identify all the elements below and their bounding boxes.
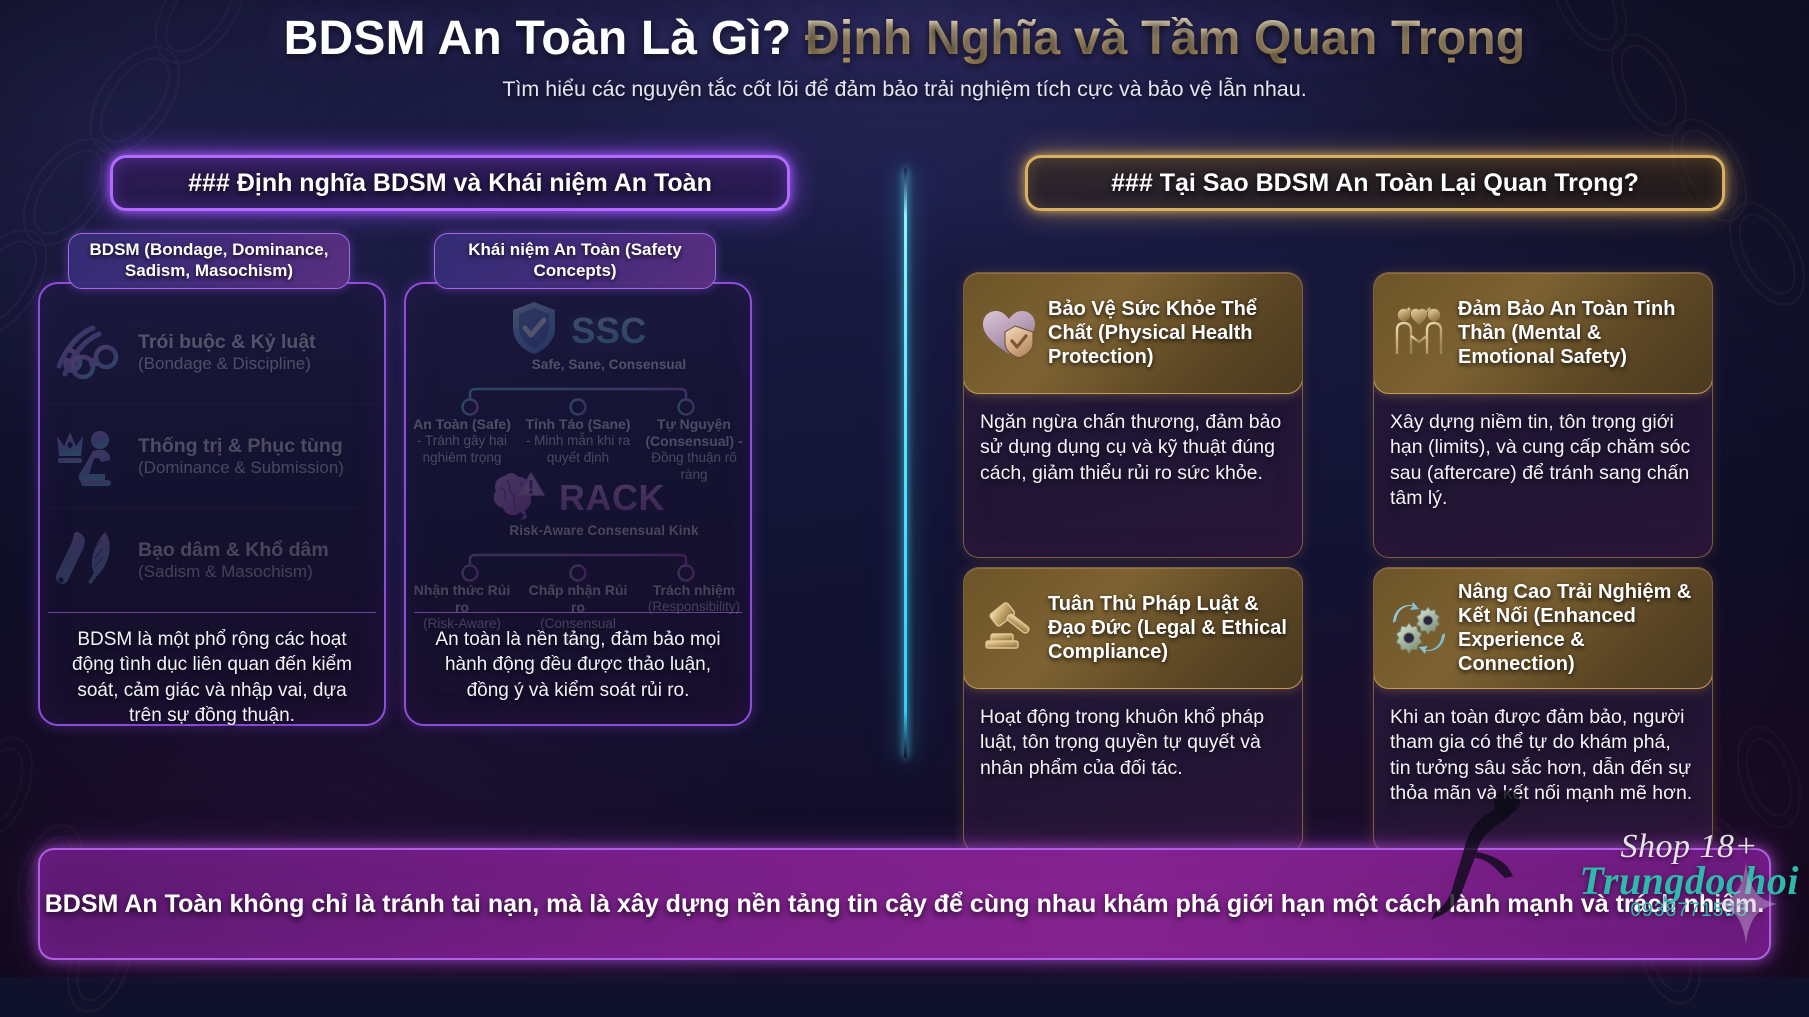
benefit-card-body: Khi an toàn được đảm bảo, người tham gia… — [1374, 689, 1712, 806]
benefit-card-body: Xây dựng niềm tin, tôn trọng giới hạn (l… — [1374, 394, 1712, 511]
page-subtitle: Tìm hiểu các nguyên tắc cốt lõi để đảm b… — [0, 77, 1809, 102]
benefit-card-title: Nâng Cao Trải Nghiệm & Kết Nối (Enhanced… — [1458, 580, 1700, 676]
bdsm-panel-chip: BDSM (Bondage, Dominance, Sadism, Masoch… — [68, 233, 350, 289]
page-title-gold: Định Nghĩa và Tầm Quan Trọng — [805, 12, 1525, 65]
benefit-card-enhanced-experience[interactable]: Nâng Cao Trải Nghiệm & Kết Nối (Enhanced… — [1373, 567, 1713, 853]
bdsm-footnote: BDSM là một phổ rộng các hoạt động tình … — [48, 612, 376, 728]
benefit-card-body: Hoạt động trong khuôn khổ pháp luật, tôn… — [964, 689, 1302, 781]
page-title-white: BDSM An Toàn Là Gì? — [284, 12, 792, 65]
benefit-card-header: Bảo Vệ Sức Khỏe Thể Chất (Physical Healt… — [963, 272, 1303, 394]
benefit-card-header: Tuân Thủ Pháp Luật & Đạo Đức (Legal & Et… — [963, 567, 1303, 689]
benefit-card-header: Đảm Bảo An Toàn Tinh Thần (Mental & Emot… — [1373, 272, 1713, 394]
bottom-banner-text: BDSM An Toàn không chỉ là tránh tai nạn,… — [45, 888, 1764, 921]
heart-shield-icon — [980, 307, 1038, 359]
bottom-banner: BDSM An Toàn không chỉ là tránh tai nạn,… — [38, 848, 1771, 960]
benefit-card-physical-health[interactable]: Bảo Vệ Sức Khỏe Thể Chất (Physical Healt… — [963, 272, 1303, 558]
benefit-card-title: Đảm Bảo An Toàn Tinh Thần (Mental & Emot… — [1458, 297, 1700, 369]
benefit-card-body: Ngăn ngừa chấn thương, đảm bảo sử dụng d… — [964, 394, 1302, 486]
gears-cycle-icon — [1390, 601, 1448, 655]
right-section-heading: ### Tại Sao BDSM An Toàn Lại Quan Trọng? — [1025, 155, 1725, 211]
benefit-card-header: Nâng Cao Trải Nghiệm & Kết Nối (Enhanced… — [1373, 567, 1713, 689]
two-people-heart-icon — [1390, 306, 1448, 360]
gavel-icon — [980, 601, 1038, 655]
safety-footnote: An toàn là nền tảng, đảm bảo mọi hành độ… — [414, 612, 742, 703]
page-title: BDSM An Toàn Là Gì? Định Nghĩa và Tầm Qu… — [0, 12, 1809, 66]
vertical-neon-divider — [904, 168, 907, 758]
benefit-card-legal-ethical[interactable]: Tuân Thủ Pháp Luật & Đạo Đức (Legal & Et… — [963, 567, 1303, 853]
benefit-card-mental-safety[interactable]: Đảm Bảo An Toàn Tinh Thần (Mental & Emot… — [1373, 272, 1713, 558]
benefit-card-title: Bảo Vệ Sức Khỏe Thể Chất (Physical Healt… — [1048, 297, 1290, 369]
safety-panel-chip: Khái niệm An Toàn (Safety Concepts) — [434, 233, 716, 289]
left-section-heading: ### Định nghĩa BDSM và Khái niệm An Toàn — [110, 155, 790, 211]
page-header: BDSM An Toàn Là Gì? Định Nghĩa và Tầm Qu… — [0, 12, 1809, 102]
benefit-card-title: Tuân Thủ Pháp Luật & Đạo Đức (Legal & Et… — [1048, 592, 1290, 664]
